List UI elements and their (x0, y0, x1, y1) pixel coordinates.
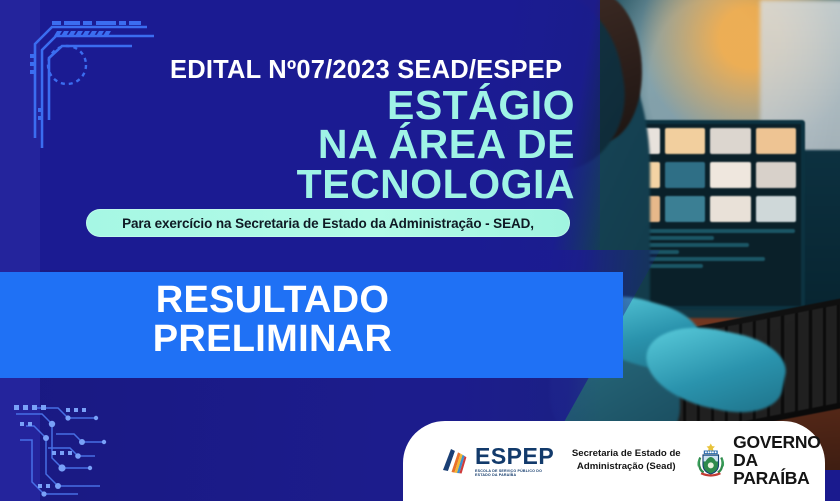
espep-subtitle: ESCOLA DE SERVIÇO PÚBLICO DO ESTADO DA P… (475, 470, 558, 477)
sead-line-2: Administração (Sead) (572, 461, 681, 474)
governo-da-paraiba-logo: GOVERNO DA PARAÍBA (695, 434, 825, 488)
paraiba-coat-of-arms-icon (695, 439, 727, 483)
espep-name: ESPEP (475, 445, 558, 468)
photo-person-hand-right (638, 316, 791, 421)
photo-monitor-side (760, 0, 840, 300)
main-headline: ESTÁGIO NA ÁREA DE TECNOLOGIA (0, 86, 575, 204)
circuit-decoration-bottom-left (0, 396, 130, 501)
result-banner-text: RESULTADO PRELIMINAR (0, 281, 545, 359)
espep-book-icon (439, 446, 469, 476)
sead-line-1: Secretaria de Estado de (572, 448, 681, 461)
sead-label: Secretaria de Estado de Administração (S… (572, 448, 681, 474)
page-title-edital: EDITAL Nº07/2023 SEAD/ESPEP (170, 56, 570, 85)
poster-canvas: EDITAL Nº07/2023 SEAD/ESPEP ESTÁGIO NA Á… (0, 0, 840, 501)
headline-line-1: ESTÁGIO (0, 86, 575, 125)
footer-logo-bar: ESPEP ESCOLA DE SERVIÇO PÚBLICO DO ESTAD… (403, 421, 825, 501)
espep-wordmark: ESPEP ESCOLA DE SERVIÇO PÚBLICO DO ESTAD… (475, 445, 558, 477)
result-banner: RESULTADO PRELIMINAR (0, 272, 623, 378)
gov-line-2: DA PARAÍBA (733, 452, 825, 488)
photo-monitor-right (782, 150, 840, 320)
result-line-2: PRELIMINAR (0, 320, 545, 359)
headline-line-2: NA ÁREA DE (0, 125, 575, 164)
result-line-1: RESULTADO (0, 281, 545, 320)
headline-line-3: TECNOLOGIA (0, 165, 575, 204)
governo-wordmark: GOVERNO DA PARAÍBA (733, 434, 825, 488)
espep-logo: ESPEP ESCOLA DE SERVIÇO PÚBLICO DO ESTAD… (439, 445, 558, 477)
subtitle-pill: Para exercício na Secretaria de Estado d… (86, 209, 570, 237)
